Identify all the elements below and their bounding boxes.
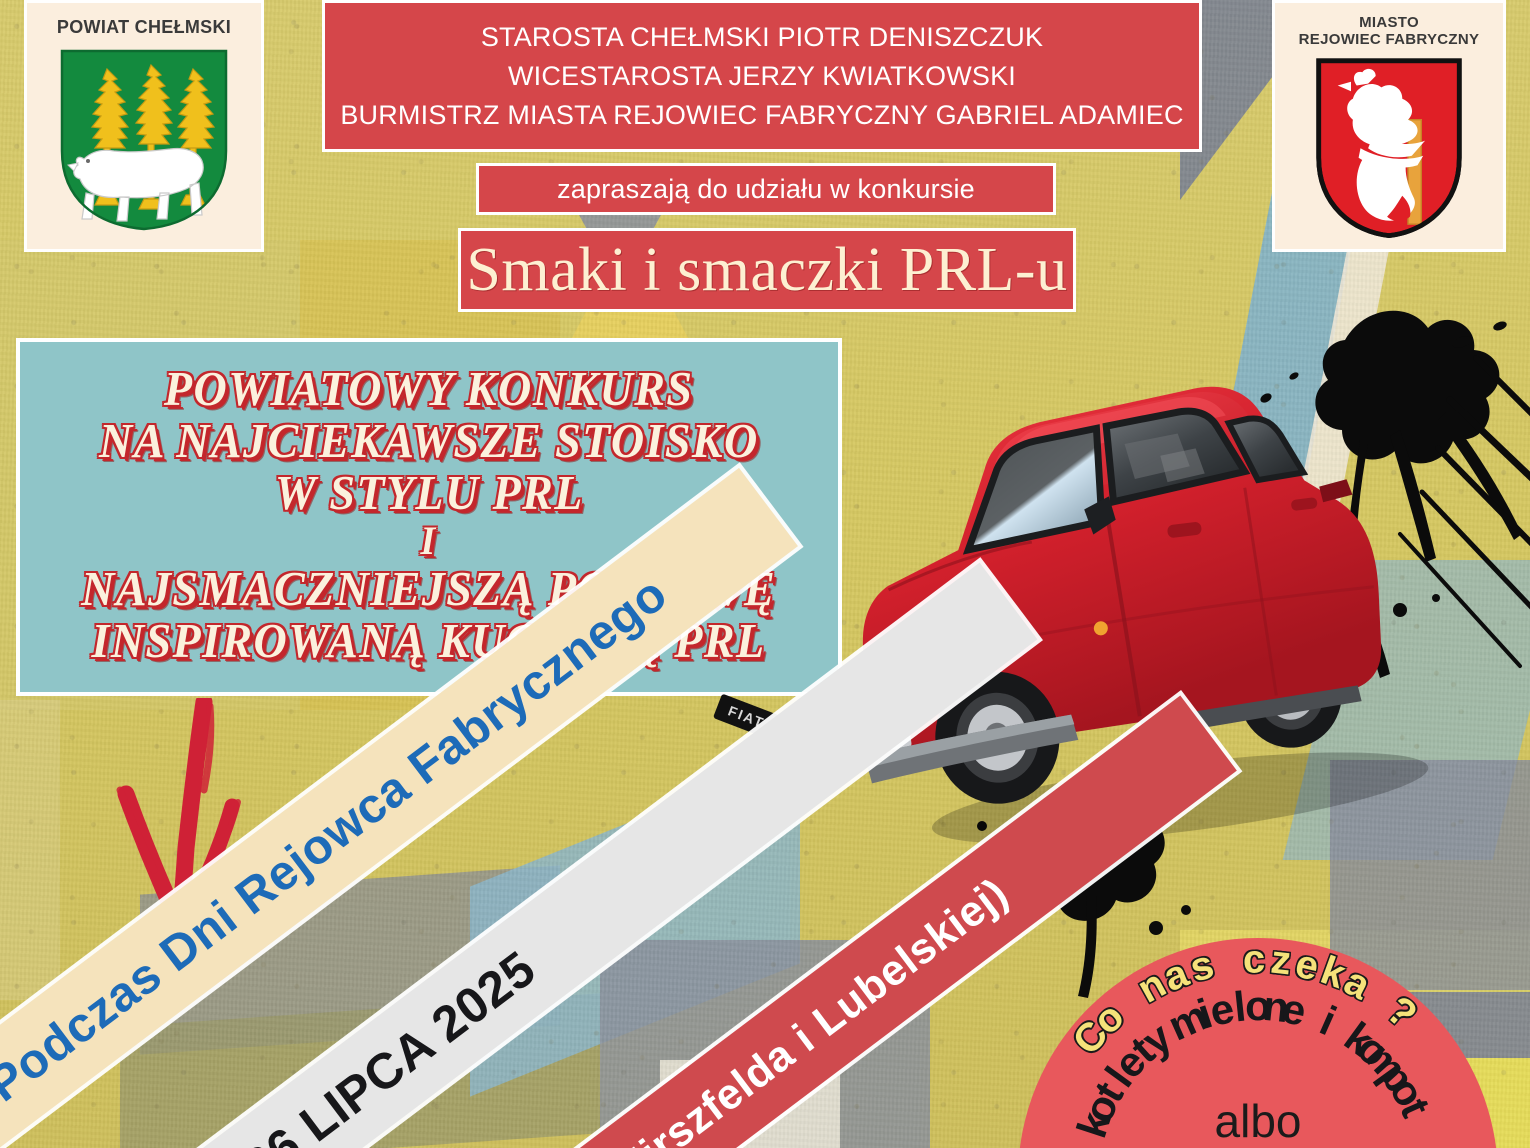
emblem-miasto-title-line1: MIASTO — [1359, 15, 1419, 32]
official-line-2: WICESTAROSTA JERZY KWIATKOWSKI — [508, 61, 1016, 92]
invite-panel: zapraszają do udziału w konkursie — [476, 163, 1056, 215]
coat-of-arms-bird-with-banner-icon — [1309, 57, 1469, 239]
contest-line-2: NA NAJCIEKAWSZE STOISKO — [99, 416, 759, 466]
header-officials-panel: STAROSTA CHEŁMSKI PIOTR DENISZCZUK WICES… — [322, 0, 1202, 152]
emblem-card-powiat: POWIAT CHEŁMSKI — [24, 0, 264, 252]
emblem-miasto-title-line2: REJOWIEC FABRYCZNY — [1299, 32, 1480, 49]
emblem-card-miasto: MIASTO REJOWIEC FABRYCZNY — [1272, 0, 1506, 252]
what-awaits-circle: Co nas czeka ? kotlety mielone i kompot … — [1018, 938, 1498, 1148]
invite-text: zapraszają do udziału w konkursie — [557, 174, 975, 205]
title-panel: Smaki i smaczki PRL-u — [458, 228, 1076, 312]
poster-title: Smaki i smaczki PRL-u — [466, 235, 1067, 306]
coat-of-arms-bear-three-trees-icon — [56, 47, 232, 233]
poster-canvas: POWIAT CHEŁMSKI — [0, 0, 1530, 1148]
circle-center-text: albo — [1018, 1094, 1498, 1148]
official-line-3: BURMISTRZ MIASTA REJOWIEC FABRYCZNY GABR… — [340, 100, 1183, 131]
official-line-1: STAROSTA CHEŁMSKI PIOTR DENISZCZUK — [481, 22, 1043, 53]
contest-line-3: W STYLU PRL — [275, 468, 584, 518]
emblem-powiat-title: POWIAT CHEŁMSKI — [57, 17, 231, 37]
contest-line-4: I — [421, 521, 437, 562]
contest-line-1: POWIATOWY KONKURS — [164, 364, 693, 414]
